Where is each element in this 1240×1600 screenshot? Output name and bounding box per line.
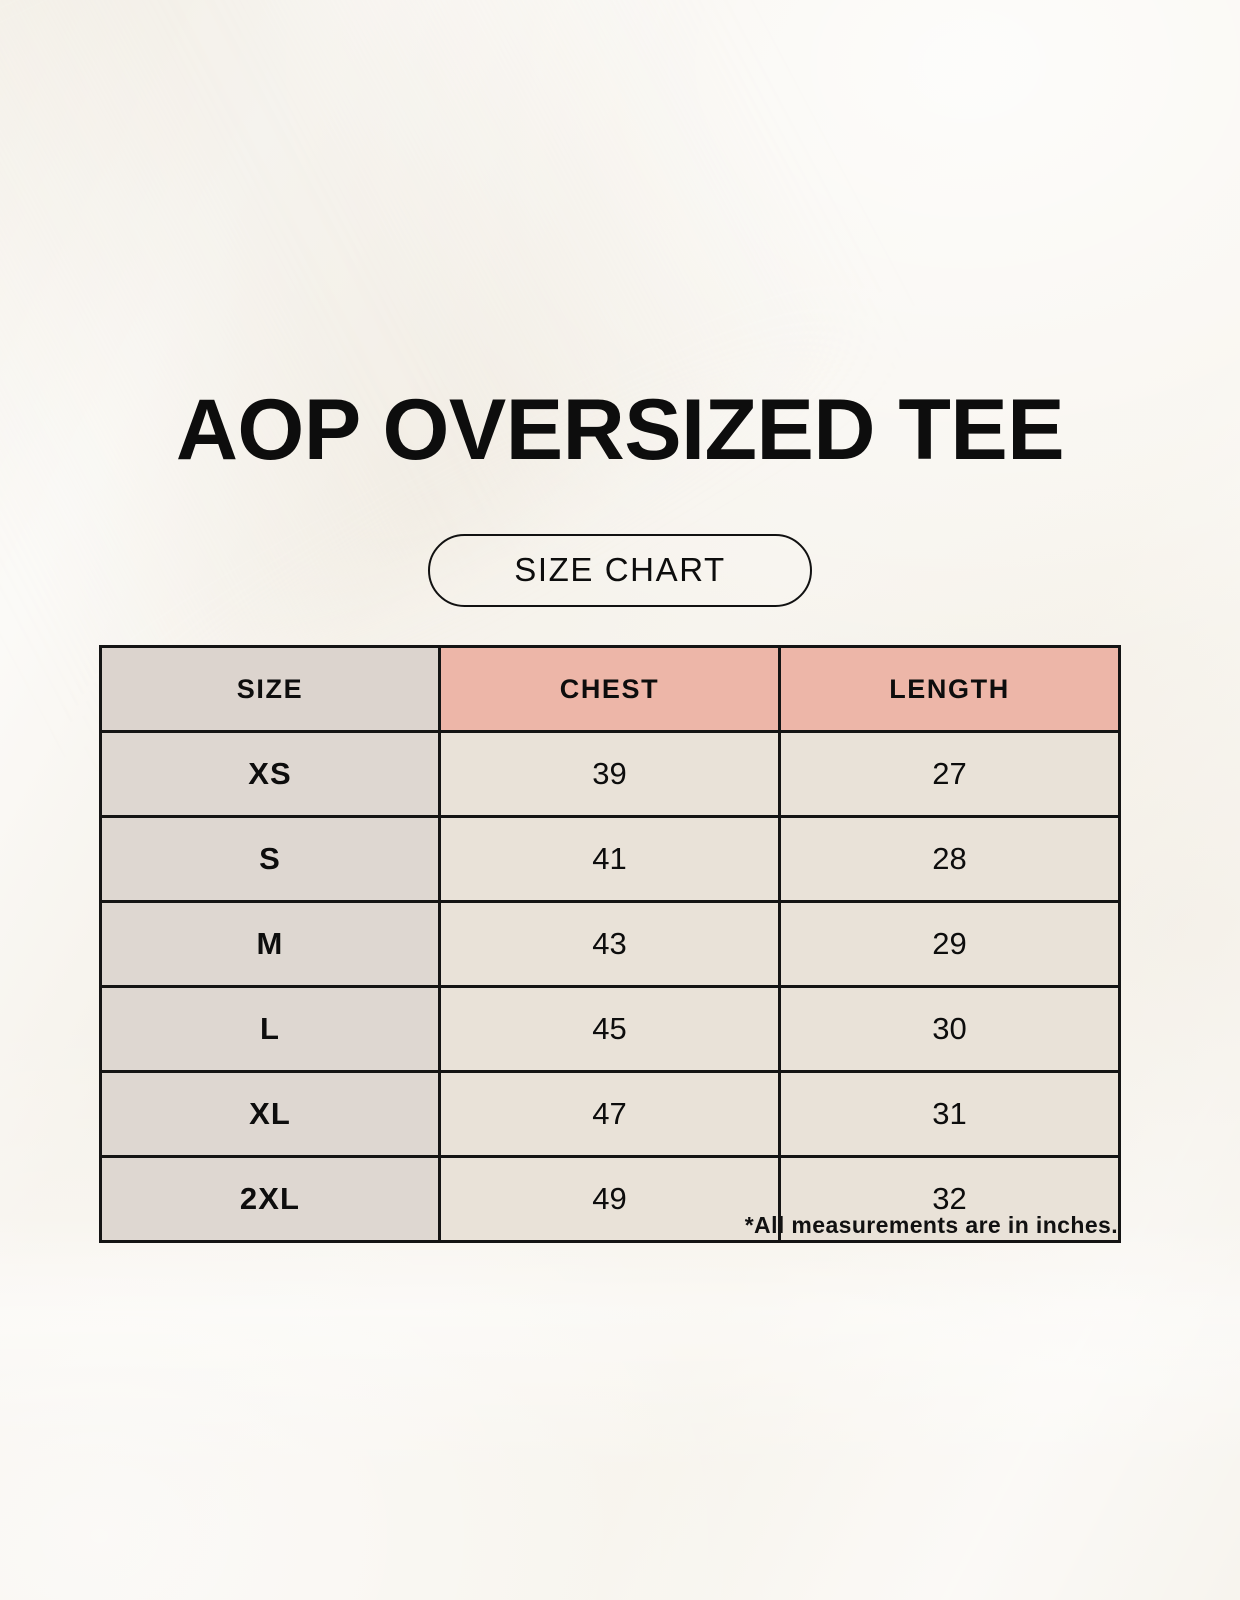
column-header-size: SIZE	[101, 647, 440, 732]
size-chart-table: SIZE CHEST LENGTH XS 39 27 S 41 28 M	[99, 645, 1121, 1243]
table-row: M 43 29	[101, 902, 1120, 987]
table-header-row: SIZE CHEST LENGTH	[101, 647, 1120, 732]
cell-size: XL	[101, 1072, 440, 1157]
cell-length: 30	[780, 987, 1120, 1072]
cell-length: 31	[780, 1072, 1120, 1157]
cell-chest: 45	[440, 987, 780, 1072]
table-row: L 45 30	[101, 987, 1120, 1072]
cell-length: 29	[780, 902, 1120, 987]
cell-size: M	[101, 902, 440, 987]
cell-chest: 41	[440, 817, 780, 902]
table-body: XS 39 27 S 41 28 M 43 29 L 45 30	[101, 732, 1120, 1242]
size-chart-table-container: SIZE CHEST LENGTH XS 39 27 S 41 28 M	[99, 645, 1118, 1243]
table-row: S 41 28	[101, 817, 1120, 902]
cell-size: XS	[101, 732, 440, 817]
size-chart-badge-row: SIZE CHART	[0, 534, 1240, 607]
page-title: AOP OVERSIZED TEE	[0, 388, 1240, 472]
cell-chest: 43	[440, 902, 780, 987]
table-row: XL 47 31	[101, 1072, 1120, 1157]
size-chart-badge: SIZE CHART	[428, 534, 812, 607]
cell-length: 27	[780, 732, 1120, 817]
cell-size: S	[101, 817, 440, 902]
cell-chest: 39	[440, 732, 780, 817]
column-header-chest: CHEST	[440, 647, 780, 732]
measurement-units-note: *All measurements are in inches.	[99, 1212, 1118, 1239]
table-row: XS 39 27	[101, 732, 1120, 817]
cell-size: L	[101, 987, 440, 1072]
cell-chest: 47	[440, 1072, 780, 1157]
table-header: SIZE CHEST LENGTH	[101, 647, 1120, 732]
column-header-length: LENGTH	[780, 647, 1120, 732]
size-chart-graphic: AOP OVERSIZED TEE SIZE CHART SIZE CHEST …	[0, 0, 1240, 1600]
cell-length: 28	[780, 817, 1120, 902]
